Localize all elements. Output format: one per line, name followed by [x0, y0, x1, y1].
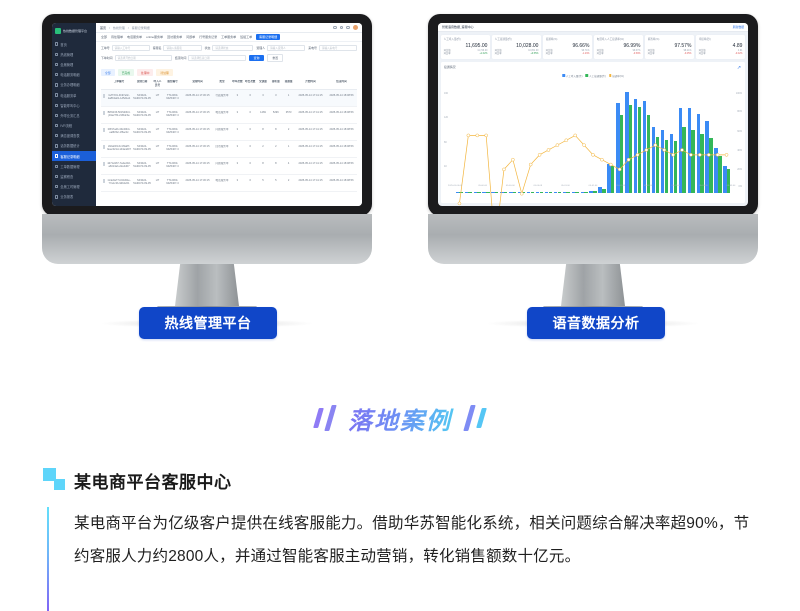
voice-analysis-button[interactable]: 语音数据分析 [527, 307, 665, 339]
cell-caller: HT [152, 145, 163, 155]
kpi-card-5: 呼损率(秒) 4.89 环比值4.91 环比率-0.02% [696, 35, 745, 59]
cell-answer: 8 [269, 162, 282, 172]
cell-type: 问题服务单 [213, 162, 231, 172]
x-tick: 05-03:00 [699, 185, 708, 187]
kpi-title: 电话呼入人工接通率(%) [597, 37, 641, 41]
cell-answer: 5 [269, 179, 282, 189]
cell-type: 行政服务单 [213, 94, 231, 104]
col-accept-time[interactable]: 受理时间 [182, 80, 213, 87]
cell-accept-time: 2025-05-14 17:30:15 [182, 145, 213, 155]
cell-out-count: 0 [244, 162, 257, 172]
tab-7[interactable]: 工单服务单 [221, 35, 236, 39]
cell-type: 问题服务单 [213, 128, 231, 138]
status-chip-row: 全部 已完成 处理中 待处理 [96, 67, 362, 78]
cell-service-no: TT12063-9425407-3 [163, 162, 182, 172]
sidebar-item-label: 电话服务单 [60, 93, 76, 98]
cell-connect: 1 [282, 145, 295, 155]
cell-start-time: 2025-05-14 17:41:15 [295, 128, 326, 138]
monitor-right-frame: 智能语音数据_客服中心 刷新数据 人工呼入量(件) 11,695.00 环比值1… [428, 14, 758, 216]
y-tick: 120 [444, 116, 448, 119]
cell-out-count: 0 [244, 128, 257, 138]
filter-input[interactable]: 请输入受理人 [267, 45, 305, 51]
filter-field-date-start: 下单时间 请选择开始日期 [101, 55, 172, 61]
search-button[interactable]: 查询 [249, 55, 265, 61]
filter-field-1: 客服名 请输入客服名 [153, 45, 202, 51]
x-axis: 2025-05-00:0005-00:0005-00:0405-00:0805-… [455, 185, 731, 192]
cell-accept-date: SF3024-51d0473-09-05 [132, 145, 152, 155]
cell-order-no: B8f1fc0f-5015d3b3-j04e27f0-21f6dcbe [106, 111, 132, 121]
dashboard-title: 智能语音数据_客服中心 [442, 25, 474, 29]
filter-field-0: 工单号 请输入工单号 [101, 45, 150, 51]
cell-service-no: TT12063-9425407-3 [163, 94, 182, 104]
cell-out-count: 0 [244, 94, 257, 104]
filter-field-3: 受理人 请输入受理人 [256, 45, 305, 51]
sidebar-item-2[interactable]: 坐席管理 [52, 59, 96, 69]
sidebar-item-6[interactable]: 智能呼叫中心 [52, 100, 96, 110]
sidebar-item-8[interactable]: IVR流程 [52, 121, 96, 131]
kpi-compare-row: 环比率-0.59% [597, 53, 641, 56]
cell-answer: 5296 [269, 111, 282, 121]
monitor-right-neck [561, 264, 625, 306]
menu-icon [55, 185, 58, 188]
legend-swatch [609, 74, 612, 77]
cell-accept-date: SF3024-51d0473-09-05 [132, 111, 152, 121]
filter-label: 来电号 [308, 46, 317, 50]
cell-type: 回访服务单 [213, 145, 231, 155]
sidebar-item-13[interactable]: 监察稽查 [52, 171, 96, 181]
sidebar-item-label: 外呼业务汇总 [60, 113, 79, 118]
sidebar-item-label: 热线管理 [60, 52, 73, 57]
monitor-left: 热线数据管理平台 首页 热线管理 坐席管理 电话服务明细 业务办理明细 电话服务… [42, 14, 372, 328]
kpi-value: 96.99% [597, 43, 641, 49]
monitor-right-chin [428, 214, 758, 264]
slash-decoration-right-1 [463, 405, 475, 431]
sidebar-item-5[interactable]: 电话服务单 [52, 90, 96, 100]
section-header-inner: 落地案例 [0, 394, 800, 442]
menu-icon [55, 53, 58, 56]
menu-icon [55, 165, 58, 168]
cell-start-time: 2025-05-14 17:41:15 [295, 111, 326, 121]
cell-talk: 1469 [257, 111, 270, 121]
kpi-title: 人工呼入量(件) [444, 37, 488, 41]
records-table: 工单编号 受理日期 呼入人员号 服务编号 受理时间 类型 呼叫次数 呼出次数 交… [96, 78, 362, 206]
monitor-right-screen: 智能语音数据_客服中心 刷新数据 人工呼入量(件) 11,695.00 环比值1… [438, 23, 748, 206]
cell-start-time: 2025-05-14 17:41:15 [295, 94, 326, 104]
tab-0[interactable]: 全部 [101, 35, 107, 39]
sidebar-item-3[interactable]: 电话服务明细 [52, 70, 96, 80]
y-tick: 40 [444, 165, 447, 168]
bell-icon[interactable] [346, 26, 349, 29]
tab-3[interactable]: online服务单 [146, 35, 163, 39]
cell-order-no: GZ7X01-9197a0c-1a8b3a01-1d5d1eb [106, 94, 132, 104]
col-out-count[interactable]: 呼出次数 [244, 80, 257, 87]
refresh-button[interactable]: 刷新数据 [733, 25, 744, 29]
cell-call-count: 3 [231, 94, 244, 104]
kpi-title: 解答率(%) [648, 37, 692, 41]
hotline-platform-button[interactable]: 热线管理平台 [139, 307, 277, 339]
cell-service-no: TT12063-9425407-3 [163, 145, 182, 155]
cell-accept-time: 2025-05-14 17:30:15 [182, 179, 213, 189]
kpi-compare-value: -1.23% [582, 53, 589, 56]
x-tick: 05-02:02 [644, 185, 653, 187]
y-tick: 160 [444, 92, 448, 95]
kpi-card-row: 人工呼入量(件) 11,695.00 环比值11,746.00 环比率+1.02… [438, 32, 748, 62]
menu-icon [55, 195, 58, 198]
cell-caller: HT [152, 94, 163, 104]
admin-sidebar: 热线数据管理平台 首页 热线管理 坐席管理 电话服务明细 业务办理明细 电话服务… [52, 23, 96, 206]
kpi-compare-value: +1.02% [480, 53, 488, 56]
kpi-value: 96.66% [546, 43, 590, 49]
cell-type: 电话服务单 [213, 179, 231, 189]
menu-icon [55, 114, 58, 117]
menu-icon [55, 42, 58, 45]
table-header: 工单编号 受理日期 呼入人员号 服务编号 受理时间 类型 呼叫次数 呼出次数 交… [101, 78, 357, 90]
cell-out-count: 0 [244, 179, 257, 189]
col-answer[interactable]: 接听量 [269, 80, 282, 87]
sidebar-item-label: 业务报表 [60, 194, 73, 199]
y-tick: 0% [739, 185, 742, 188]
x-tick: 05-03:04 [727, 185, 736, 187]
case-heading: 某电商平台客服中心 [74, 468, 232, 493]
cell-caller: HT [152, 111, 163, 121]
menu-icon [55, 83, 58, 86]
sidebar-item-label: 智能呼叫中心 [60, 103, 79, 108]
cell-caller: HT [152, 179, 163, 189]
sidebar-item-label: 业务办理明细 [60, 82, 79, 87]
cell-end-time: 2025-05-14 18:08:56 [326, 162, 357, 172]
voice-dashboard-app: 智能语音数据_客服中心 刷新数据 人工呼入量(件) 11,695.00 环比值1… [438, 23, 748, 206]
kpi-compare-row: 环比率-0.02% [699, 53, 743, 56]
table-row[interactable]: cb0a003-6c1f3a87-9eec021d-143a4d07 SF302… [101, 141, 357, 158]
x-tick: 05-01:00 [561, 185, 570, 187]
breadcrumb-sep: / [128, 26, 129, 30]
sidebar-item-label: 工单数据管理 [60, 164, 79, 169]
cell-accept-date: SF3024-51d0473-09-05 [132, 94, 152, 104]
menu-icon [55, 134, 58, 137]
col-connect[interactable]: 接通量 [282, 80, 295, 87]
monitor-left-chin [42, 214, 372, 264]
y-tick: 80% [737, 110, 742, 113]
filter-select[interactable]: 请选择状态 [212, 45, 253, 51]
cell-service-no: TT12063-9425407-3 [163, 179, 182, 189]
slash-decoration-left-2 [324, 405, 336, 431]
cell-talk: 2 [257, 145, 270, 155]
cell-talk: 8 [257, 162, 270, 172]
cell-out-count: 0 [244, 145, 257, 155]
x-tick: 05-01:08 [616, 185, 625, 187]
cell-call-count: 3 [231, 111, 244, 121]
cell-order-no: b8f17a4b-39c40b4-ea8bfb2-1f5ac3c [106, 128, 132, 138]
page-root: 热线数据管理平台 首页 热线管理 坐席管理 电话服务明细 业务办理明细 电话服务… [0, 0, 800, 611]
status-chip-done[interactable]: 已完成 [118, 69, 134, 76]
x-tick: 05-00:04 [506, 185, 515, 187]
kpi-card-3: 电话呼入人工接通率(%) 96.99% 环比值96.67% 环比率-0.59% [594, 35, 643, 59]
cell-accept-date: SF3024-51d0473-09-05 [132, 179, 152, 189]
tab-4[interactable]: 回访服务单 [167, 35, 182, 39]
breadcrumb-home[interactable]: 首页 [100, 26, 106, 30]
filter-label: 工单号 [101, 46, 110, 50]
y-tick: 80 [444, 141, 447, 144]
monitor-left-screen: 热线数据管理平台 首页 热线管理 坐席管理 电话服务明细 业务办理明细 电话服务… [52, 23, 362, 206]
tab-1[interactable]: 待处理单 [111, 35, 123, 39]
cell-connect: 3573 [282, 111, 295, 121]
kpi-compare-label: 环比率 [444, 53, 451, 56]
tab-5[interactable]: 问题单 [186, 35, 195, 39]
menu-icon [55, 144, 58, 147]
admin-topbar: 首页 / 热线管理 / 客服记录明细 [96, 23, 362, 33]
filter-row-2: 下单时间 请选择开始日期 结束时间 请选择结束日期 查询 重置 [101, 54, 357, 62]
cell-accept-time: 2025-05-14 17:30:15 [182, 162, 213, 172]
cell-call-count: 3 [231, 179, 244, 189]
expand-icon[interactable]: ↗ [736, 65, 742, 71]
kpi-compare-value: -0.59% [633, 53, 640, 56]
kpi-card-2: 接通率(%) 96.66% 环比值96.71% 环比率-1.23% [543, 35, 592, 59]
kpi-title: 接通率(%) [546, 37, 590, 41]
kpi-compare-value: +0.55% [531, 53, 539, 56]
admin-tabs: 全部 待处理单 电话服务单 online服务单 回访服务单 问题单 行号服务记录… [96, 33, 362, 42]
sidebar-item-label: 坐席工时管理 [60, 184, 79, 189]
hotline-admin-app: 热线数据管理平台 首页 热线管理 坐席管理 电话服务明细 业务办理明细 电话服务… [52, 23, 362, 206]
filter-label: 下单时间 [101, 56, 113, 60]
chart-title: 接通情况 [444, 65, 742, 69]
sidebar-item-label: 首页 [60, 42, 66, 47]
monitor-left-neck [175, 264, 239, 306]
filter-label: 客服名 [153, 46, 162, 50]
sidebar-item-9[interactable]: 满意度调查表 [52, 131, 96, 141]
sidebar-item-active[interactable]: 客服记录明细 [52, 151, 96, 161]
kpi-compare-value: -0.02% [735, 53, 742, 56]
sidebar-item-10[interactable]: 话务数据统计 [52, 141, 96, 151]
date-input[interactable]: 请选择开始日期 [115, 55, 172, 61]
kpi-compare-label: 环比率 [495, 53, 502, 56]
filter-field-date-end: 结束时间 请选择结束日期 [175, 55, 246, 61]
kpi-compare-row: 环比率-3.05% [648, 53, 692, 56]
monitor-right: 智能语音数据_客服中心 刷新数据 人工呼入量(件) 11,695.00 环比值1… [428, 14, 758, 328]
kpi-value: 97.57% [648, 43, 692, 49]
y-tick: 100% [736, 92, 742, 95]
kpi-card-1: 人工接通量(件) 10,028.00 环比值10,051.00 环比率+0.55… [492, 35, 541, 59]
kpi-value: 4.89 [699, 43, 743, 49]
filter-label: 状态 [205, 46, 211, 50]
admin-main: 首页 / 热线管理 / 客服记录明细 [96, 23, 362, 206]
sidebar-item-15[interactable]: 业务报表 [52, 192, 96, 202]
cell-answer: 2 [269, 145, 282, 155]
cell-accept-date: SF3024-51d0473-09-05 [132, 128, 152, 138]
status-chip-processing[interactable]: 处理中 [137, 69, 153, 76]
kpi-value: 11,695.00 [444, 43, 488, 49]
filter-field-4: 来电号 请输入来电号 [308, 45, 357, 51]
cell-caller: HT [152, 162, 163, 172]
cell-start-time: 2025-05-14 17:41:15 [295, 162, 326, 172]
cta-button-row: 热线管理平台 语音数据分析 [0, 307, 800, 339]
cell-accept-date: SF3024-51d0473-09-05 [132, 162, 152, 172]
case-accent-rule [47, 507, 49, 611]
breadcrumb-section[interactable]: 热线管理 [113, 26, 125, 30]
sidebar-item-label: IVR流程 [60, 123, 72, 128]
marker-square-bottom [54, 479, 65, 490]
cell-end-time: 2025-05-14 18:08:56 [326, 128, 357, 138]
col-type[interactable]: 类型 [213, 80, 231, 87]
menu-icon [55, 124, 58, 127]
kpi-title: 呼损率(秒) [699, 37, 743, 41]
filter-input[interactable]: 请输入来电号 [319, 45, 357, 51]
sidebar-item-label: 电话服务明细 [60, 72, 79, 77]
col-start-time[interactable]: 开始时间 [295, 80, 326, 87]
cell-end-time: 2025-05-14 18:08:56 [326, 179, 357, 189]
monitor-left-frame: 热线数据管理平台 首页 热线管理 坐席管理 电话服务明细 业务办理明细 电话服务… [42, 14, 372, 216]
connection-chart-card: 接通情况 ↗ 人工呼入量(件) 人工接通量(件) 接通率(%) 160 120 [441, 62, 745, 203]
dashboard-topbar: 智能语音数据_客服中心 刷新数据 [438, 23, 748, 32]
y-axis-right: 100% 80% 60% 40% 20% 0% [732, 78, 742, 193]
cell-end-time: 2025-05-14 18:08:56 [326, 94, 357, 104]
x-tick: 05-00:08 [533, 185, 542, 187]
cell-service-no: TT12063-9425407-3 [163, 128, 182, 138]
table-row[interactable]: 4d71e967-7a4e20d-a6013ab-d2e4d07 SF3024-… [101, 158, 357, 175]
menu-icon [55, 63, 58, 66]
cell-end-time: 2025-05-14 18:08:56 [326, 145, 357, 155]
tab-active[interactable]: 客服记录明细 [256, 34, 280, 40]
cell-service-no: TT12063-9425407-3 [163, 111, 182, 121]
cell-answer: 3 [269, 94, 282, 104]
y-tick: 40% [737, 149, 742, 152]
kpi-compare-label: 环比率 [648, 53, 655, 56]
sidebar-item-12[interactable]: 工单数据管理 [52, 161, 96, 171]
avatar[interactable] [353, 25, 358, 30]
kpi-compare-row: 环比率+1.02% [444, 53, 488, 56]
table-row[interactable]: 1c4e9a77-b04d31e-77a1c3b-9db2e51 SF3024-… [101, 175, 357, 192]
search-icon[interactable] [333, 26, 336, 29]
filter-label: 结束时间 [175, 56, 187, 60]
sidebar-item-0[interactable]: 首页 [52, 39, 96, 49]
sidebar-item-label: 监察稽查 [60, 174, 73, 179]
cell-start-time: 2025-05-14 17:41:15 [295, 145, 326, 155]
reset-button[interactable]: 重置 [267, 54, 283, 62]
cell-call-count: 3 [231, 145, 244, 155]
col-order-no[interactable]: 工单编号 [106, 80, 132, 87]
cell-accept-time: 2025-05-14 17:30:15 [182, 128, 213, 138]
logo-icon [55, 28, 61, 34]
kpi-card-4: 解答率(%) 97.57% 环比值98.21% 环比率-3.05% [645, 35, 694, 59]
x-tick: 05-00:00 [478, 185, 487, 187]
cell-connect: 1 [282, 94, 295, 104]
table-row[interactable]: b8f17a4b-39c40b4-ea8bfb2-1f5ac3c SF3024-… [101, 124, 357, 141]
x-tick: 05-01:04 [589, 185, 598, 187]
tab-2[interactable]: 电话服务单 [127, 35, 142, 39]
menu-icon [55, 104, 58, 107]
legend-swatch [562, 74, 565, 77]
cell-talk: 8 [257, 128, 270, 138]
filter-row-1: 工单号 请输入工单号 客服名 请输入客服名 状态 [101, 45, 357, 51]
y-tick: 20% [737, 168, 742, 171]
kpi-compare-label: 环比率 [546, 53, 553, 56]
x-tick: 2025-05-00:00 [448, 185, 462, 187]
status-chip-pending[interactable]: 待处理 [156, 69, 172, 76]
table-row[interactable]: B8f1fc0f-5015d3b3-j04e27f0-21f6dcbe SF30… [101, 107, 357, 124]
cell-accept-time: 2025-05-14 17:30:15 [182, 94, 213, 104]
grid-icon[interactable] [340, 26, 343, 29]
app-logo: 热线数据管理平台 [52, 25, 96, 36]
cell-order-no: cb0a003-6c1f3a87-9eec021d-143a4d07 [106, 145, 132, 155]
cell-talk: 3 [257, 94, 270, 104]
filter-input[interactable]: 请输入工单号 [112, 45, 150, 51]
kpi-title: 人工接通量(件) [495, 37, 539, 41]
kpi-compare-label: 环比率 [699, 53, 706, 56]
table-row[interactable]: GZ7X01-9197a0c-1a8b3a01-1d5d1eb SF3024-5… [101, 90, 357, 107]
slash-decoration-left-1 [313, 408, 324, 428]
section-title: 落地案例 [340, 401, 460, 436]
kpi-compare-value: -3.05% [684, 53, 691, 56]
monitors-row: 热线数据管理平台 首页 热线管理 坐席管理 电话服务明细 业务办理明细 电话服务… [0, 8, 800, 293]
kpi-card-0: 人工呼入量(件) 11,695.00 环比值11,746.00 环比率+1.02… [441, 35, 490, 59]
cell-out-count: 0 [244, 111, 257, 121]
cell-order-no: 4d71e967-7a4e20d-a6013ab-d2e4d07 [106, 162, 132, 172]
sidebar-item-label: 话务数据统计 [60, 143, 79, 148]
case-study-block: 某电商平台客服中心 某电商平台为亿级客户提供在线客服能力。借助华苏智能化系统，相… [0, 462, 800, 611]
cell-talk: 5 [257, 179, 270, 189]
menu-icon [55, 93, 58, 96]
kpi-value: 10,028.00 [495, 43, 539, 49]
col-call-count[interactable]: 呼叫次数 [231, 80, 244, 87]
sidebar-item-1[interactable]: 热线管理 [52, 49, 96, 59]
menu-icon [55, 73, 58, 76]
cell-connect: 2 [282, 128, 295, 138]
y-axis-left: 160 120 80 40 [444, 78, 454, 193]
col-service-no[interactable]: 服务编号 [163, 80, 182, 87]
admin-filters: 工单号 请输入工单号 客服名 请输入客服名 状态 [96, 42, 362, 67]
kpi-compare-row: 环比率-1.23% [546, 53, 590, 56]
breadcrumb-sep: / [109, 26, 110, 30]
col-talk[interactable]: 交谈量 [257, 80, 270, 87]
cell-type: 电话服务单 [213, 111, 231, 121]
cell-call-count: 3 [231, 128, 244, 138]
chart-plot-area: 160 120 80 40 100% 80% 60% 40% [444, 78, 742, 193]
sidebar-item-label: 满意度调查表 [60, 133, 79, 138]
cell-end-time: 2025-05-14 18:08:56 [326, 111, 357, 121]
sidebar-item-4[interactable]: 业务办理明细 [52, 80, 96, 90]
menu-icon [55, 175, 58, 178]
filter-label: 受理人 [256, 46, 265, 50]
menu-icon [55, 154, 58, 157]
cell-connect: 4 [282, 162, 295, 172]
sidebar-item-label: 客服记录明细 [60, 154, 79, 159]
status-chip-all[interactable]: 全部 [101, 69, 115, 76]
col-caller[interactable]: 呼入人员号 [152, 80, 163, 87]
kpi-compare-label: 环比率 [597, 53, 604, 56]
slash-decoration-right-2 [476, 408, 487, 428]
col-accept-date[interactable]: 受理日期 [132, 80, 152, 87]
date-input[interactable]: 请选择结束日期 [188, 55, 245, 61]
sidebar-item-7[interactable]: 外呼业务汇总 [52, 110, 96, 120]
cell-call-count: 3 [231, 162, 244, 172]
tab-8[interactable]: 班组工单 [240, 35, 252, 39]
filter-input[interactable]: 请输入客服名 [163, 45, 201, 51]
tab-6[interactable]: 行号服务记录 [199, 35, 217, 39]
cell-caller: HT [152, 128, 163, 138]
sidebar-item-label: 坐席管理 [60, 62, 73, 67]
breadcrumb-current: 客服记录明细 [132, 26, 150, 30]
section-header: 落地案例 [0, 394, 800, 442]
col-end-time[interactable]: 结束时间 [326, 80, 357, 87]
sidebar-item-14[interactable]: 坐席工时管理 [52, 182, 96, 192]
case-body-text: 某电商平台为亿级客户提供在线客服能力。借助华苏智能化系统，相关问题综合解决率超9… [74, 507, 764, 573]
app-title: 热线数据管理平台 [63, 29, 87, 33]
x-tick: 05-02:06 [671, 185, 680, 187]
y-tick: 60% [737, 130, 742, 133]
cell-start-time: 2025-05-14 17:41:15 [295, 179, 326, 189]
legend-swatch [586, 74, 589, 77]
cell-accept-time: 2025-05-14 17:30:15 [182, 111, 213, 121]
kpi-compare-row: 环比率+0.55% [495, 53, 539, 56]
